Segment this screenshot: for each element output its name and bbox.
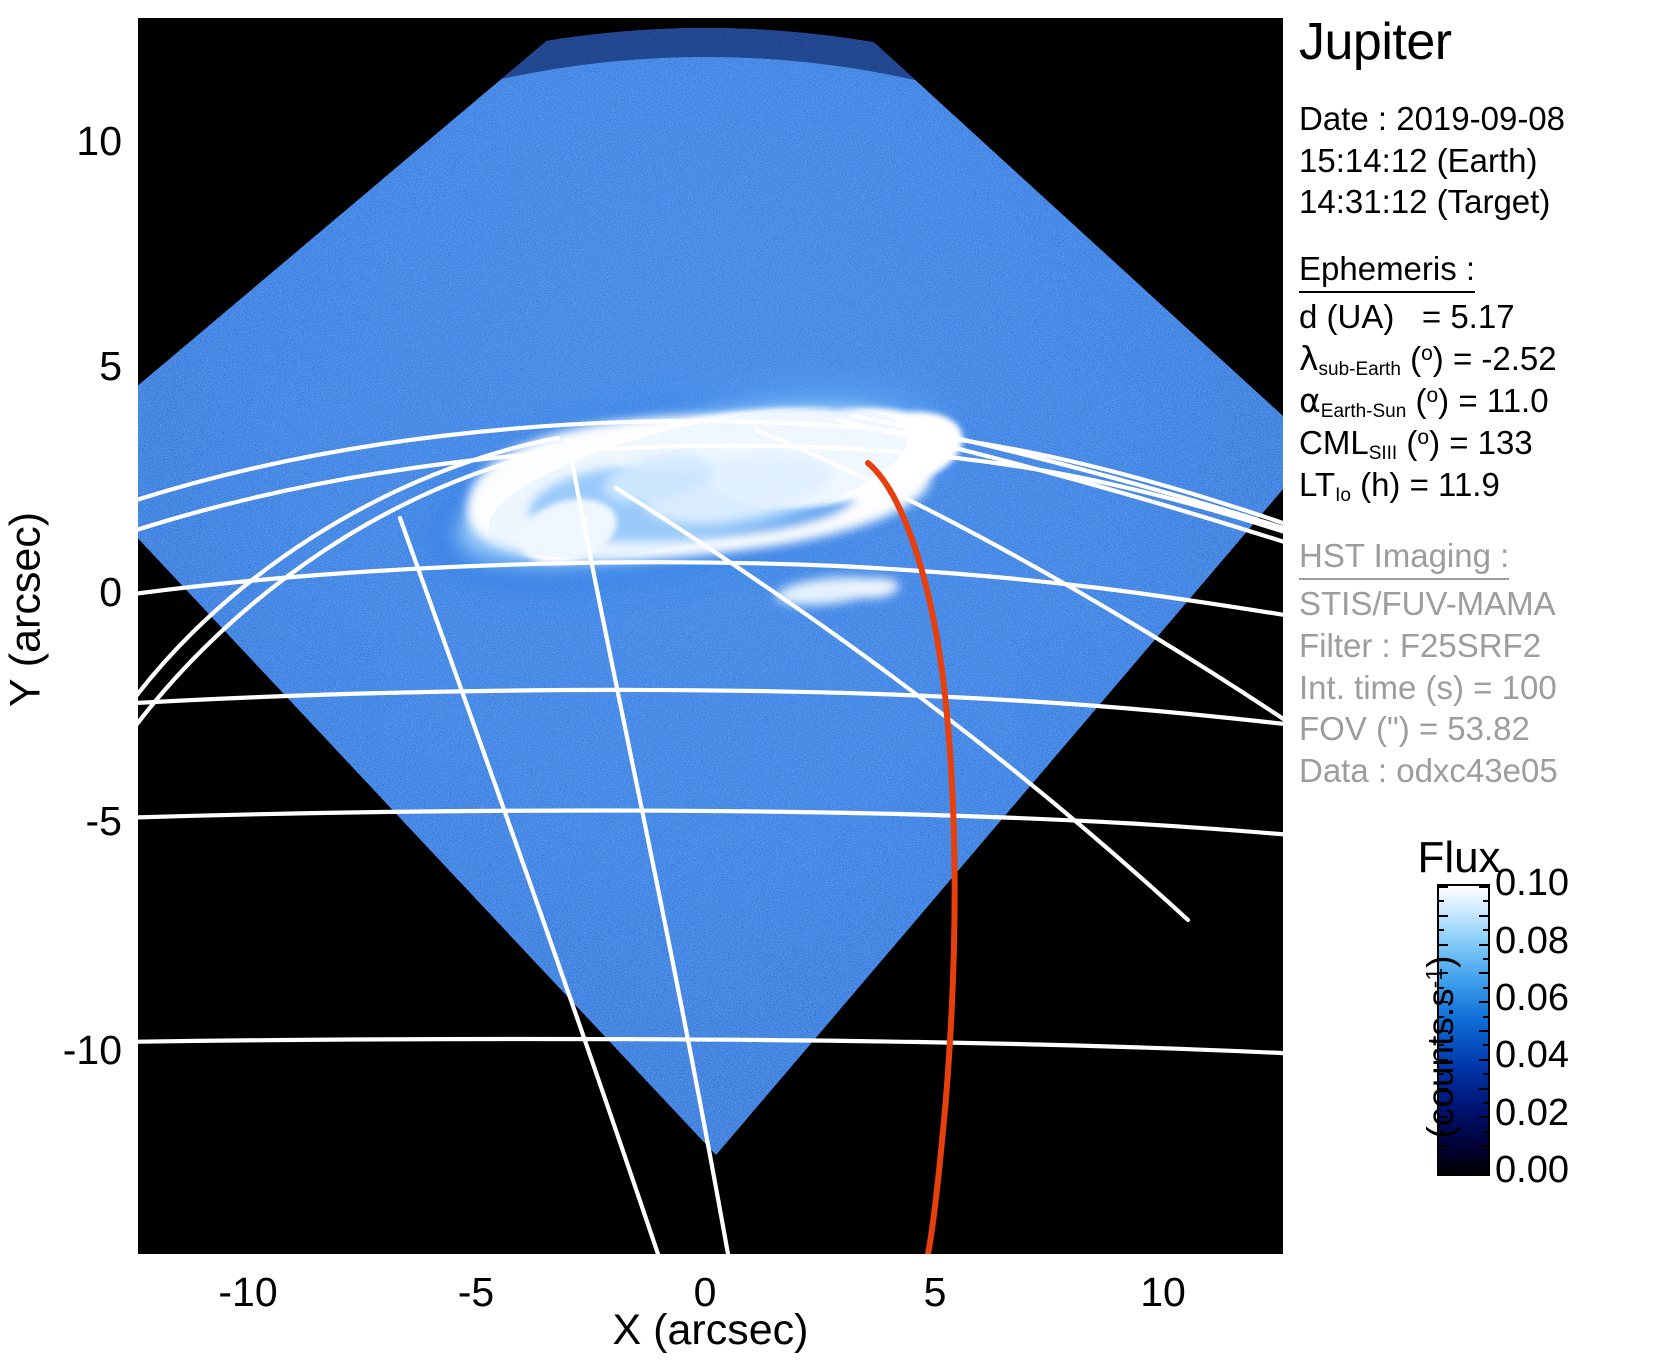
eph-sub-alpha: Earth-Sun: [1321, 401, 1407, 422]
eph-unit-lt: (h): [1360, 466, 1400, 503]
eph-unit-cml: o: [1417, 426, 1429, 449]
ephemeris-row-lt-io: LTIo (h) = 11.9: [1299, 464, 1676, 506]
eph-unit-alpha: o: [1426, 384, 1438, 407]
eph-symbol-d: d: [1299, 298, 1317, 335]
colorbar-tick-008: 0.08: [1495, 922, 1569, 960]
ephemeris-row-lambda-sub-earth: λsub-Earth (o) = -2.52: [1299, 338, 1676, 380]
eph-value-d: = 5.17: [1422, 298, 1515, 335]
ephemeris-row-distance: d (UA) = 5.17: [1299, 296, 1676, 338]
colorbar-unit-label: (counts.s-1): [1420, 897, 1462, 1197]
hst-instrument: STIS/FUV-MAMA: [1299, 583, 1676, 625]
eph-symbol-lambda: λ: [1299, 339, 1319, 378]
colorbar-tick-000: 0.00: [1495, 1151, 1569, 1189]
ephemeris-row-alpha-earth-sun: αEarth-Sun (o) = 11.0: [1299, 380, 1676, 422]
colorbar-unit-prefix: (counts.s: [1420, 988, 1461, 1138]
observation-date: Date : 2019-09-08: [1299, 98, 1676, 140]
plot-canvas: [138, 18, 1283, 1254]
target-name: Jupiter: [1299, 0, 1676, 68]
flux-colorbar: Flux: [1299, 836, 1676, 1236]
y-tick-5: 5: [2, 346, 122, 387]
ephemeris-block: Ephemeris : d (UA) = 5.17 λsub-Earth (o)…: [1299, 249, 1676, 506]
eph-symbol-lt: LT: [1299, 466, 1335, 503]
aurora-image-plot: [138, 18, 1283, 1254]
hst-dataset-id: Data : odxc43e05: [1299, 750, 1676, 792]
eph-symbol-alpha: α: [1299, 381, 1321, 420]
colorbar-tick-004: 0.04: [1495, 1036, 1569, 1074]
colorbar-tick-006: 0.06: [1495, 979, 1569, 1017]
observation-time-target: 14:31:12 (Target): [1299, 181, 1676, 223]
eph-sub-lt: Io: [1335, 485, 1351, 506]
hst-imaging-heading: HST Imaging :: [1299, 536, 1509, 581]
x-axis-title: X (arcsec): [138, 1306, 1283, 1355]
colorbar-tick-010: 0.10: [1495, 864, 1569, 902]
colorbar-tick-002: 0.02: [1495, 1094, 1569, 1132]
y-tick-minus10: -10: [2, 1030, 122, 1071]
colorbar-unit-suffix: ): [1420, 956, 1461, 968]
y-tick-10: 10: [2, 121, 122, 162]
observation-time-earth: 15:14:12 (Earth): [1299, 140, 1676, 182]
ephemeris-heading: Ephemeris :: [1299, 249, 1475, 294]
eph-value-lt: = 11.9: [1410, 466, 1500, 503]
eph-value-lambda: = -2.52: [1453, 340, 1557, 377]
eph-value-alpha: = 11.0: [1458, 382, 1548, 419]
y-axis-title: Y (arcsec): [2, 445, 51, 775]
eph-symbol-cml: CML: [1299, 424, 1369, 461]
eph-sub-cml: SIII: [1369, 443, 1398, 464]
observation-block: Date : 2019-09-08 15:14:12 (Earth) 14:31…: [1299, 98, 1676, 223]
colorbar-unit-exponent: -1: [1421, 968, 1447, 988]
y-tick-minus5: -5: [2, 801, 122, 842]
eph-unit-lambda: o: [1421, 342, 1433, 365]
ephemeris-row-cml: CMLSIII (o) = 133: [1299, 422, 1676, 464]
hst-integration-time: Int. time (s) = 100: [1299, 667, 1676, 709]
hst-fov: FOV (") = 53.82: [1299, 708, 1676, 750]
hst-filter: Filter : F25SRF2: [1299, 625, 1676, 667]
eph-sub-lambda: sub-Earth: [1319, 359, 1401, 380]
eph-value-cml: = 133: [1449, 424, 1533, 461]
eph-unit-d: (UA): [1327, 298, 1395, 335]
hst-imaging-block: HST Imaging : STIS/FUV-MAMA Filter : F25…: [1299, 536, 1676, 791]
info-panel: Jupiter Date : 2019-09-08 15:14:12 (Eart…: [1299, 0, 1676, 791]
